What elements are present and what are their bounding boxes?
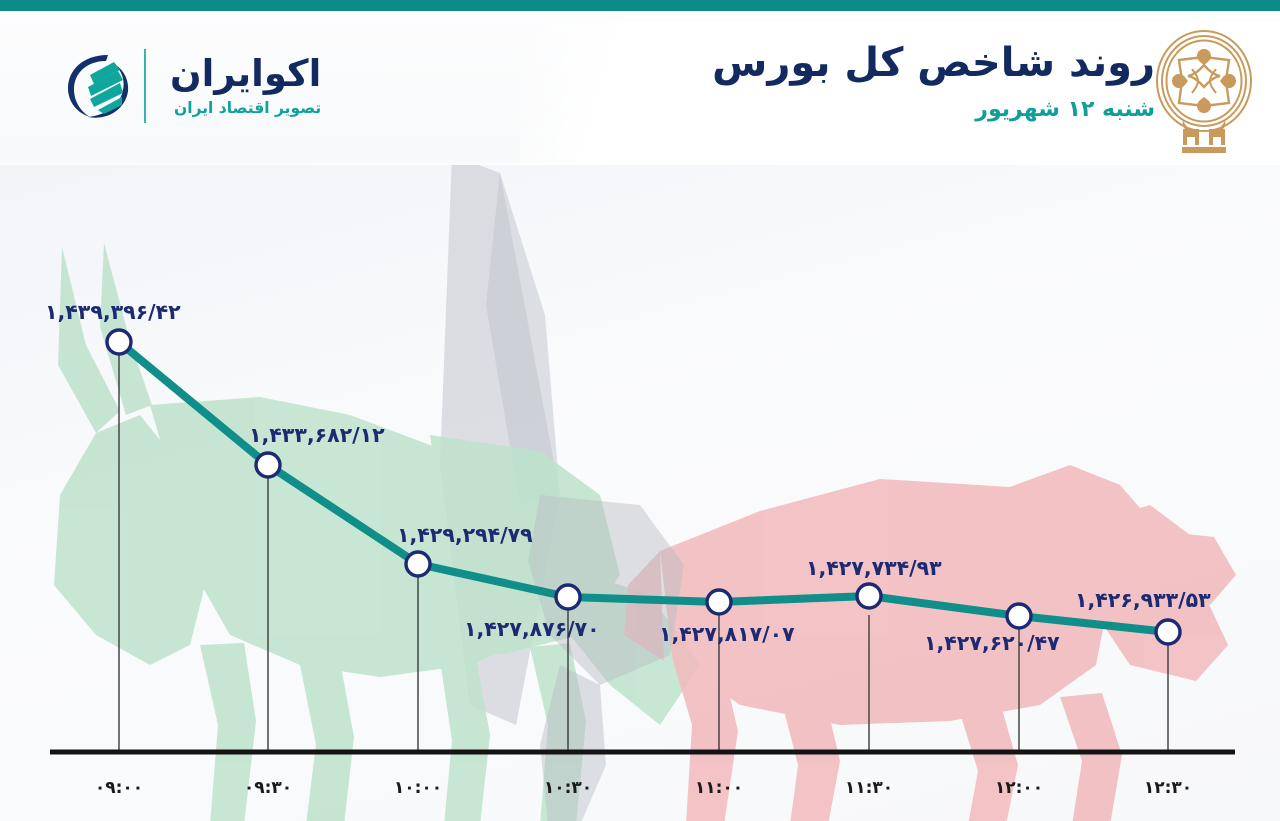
x-tick-label-5: ۱۱:۳۰	[809, 778, 929, 798]
data-label-1: ۱,۴۳۳,۶۸۲/۱۲	[249, 423, 385, 447]
top-accent-bar	[0, 0, 1280, 11]
header-band: اکوایران تصویر اقتصاد ایران روند شاخص کل…	[0, 11, 1280, 163]
x-tick-label-2: ۱۰:۰۰	[358, 778, 478, 798]
data-label-5: ۱,۴۲۷,۷۳۴/۹۳	[806, 556, 942, 580]
x-tick-label-0: ۰۹:۰۰	[59, 778, 179, 798]
tehran-stock-exchange-emblem-icon	[1148, 27, 1260, 159]
tick-drop-lines	[119, 355, 1168, 751]
data-label-0: ۱,۴۳۹,۳۹۶/۴۲	[45, 300, 181, 324]
data-label-2: ۱,۴۲۹,۲۹۴/۷۹	[397, 523, 533, 547]
data-label-4: ۱,۴۲۷,۸۱۷/۰۷	[659, 622, 795, 646]
series-line	[119, 342, 1168, 632]
chart-canvas: ۱,۴۳۹,۳۹۶/۴۲ ۱,۴۳۳,۶۸۲/۱۲ ۱,۴۲۹,۲۹۴/۷۹ ۱…	[0, 165, 1280, 821]
x-tick-label-3: ۱۰:۳۰	[508, 778, 628, 798]
x-tick-label-7: ۱۲:۳۰	[1108, 778, 1228, 798]
page-title: روند شاخص کل بورس	[0, 41, 1155, 85]
data-label-6: ۱,۴۲۷,۶۲۰/۴۷	[924, 631, 1060, 655]
x-tick-label-4: ۱۱:۰۰	[659, 778, 779, 798]
x-tick-label-1: ۰۹:۳۰	[208, 778, 328, 798]
x-tick-label-6: ۱۲:۰۰	[959, 778, 1079, 798]
infographic-page: اکوایران تصویر اقتصاد ایران روند شاخص کل…	[0, 0, 1280, 821]
data-label-3: ۱,۴۲۷,۸۷۶/۷۰	[464, 617, 600, 641]
title-block: روند شاخص کل بورس شنبه ۱۲ شهریور	[0, 41, 1155, 122]
page-date: شنبه ۱۲ شهریور	[0, 97, 1155, 122]
data-label-7: ۱,۴۲۶,۹۳۳/۵۳	[1075, 588, 1211, 612]
chart-plot	[0, 165, 1280, 821]
